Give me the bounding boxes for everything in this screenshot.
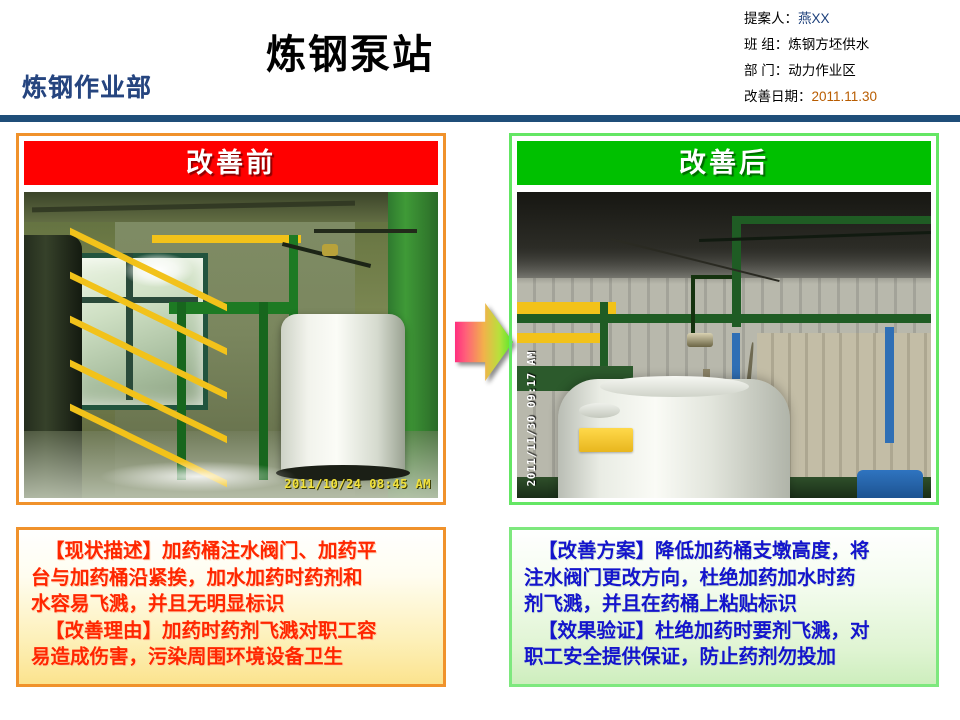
meta-value-department: 动力作业区: [788, 63, 856, 78]
meta-row-date: 改善日期：2011.11.30: [744, 84, 944, 110]
photo-before-scene: [24, 192, 438, 498]
handrail-top: [152, 235, 301, 243]
meta-block: 提案人：燕XX 班 组：炼钢方坯供水 部 门：动力作业区 改善日期：2011.1…: [744, 6, 944, 110]
panel-before: 改善前: [16, 133, 446, 505]
overhead-pipe: [314, 229, 418, 233]
dosing-tank: [281, 314, 405, 473]
slide-root: 炼钢泵站 炼钢作业部 提案人：燕XX 班 组：炼钢方坯供水 部 门：动力作业区 …: [0, 0, 960, 720]
text-line: 水容易飞溅，并且无明显标识: [31, 591, 433, 618]
meta-value-date: 2011.11.30: [812, 89, 878, 104]
arrow-shape: [455, 303, 513, 381]
text-box-before: 【现状描述】加药桶注水阀门、加药平 台与加药桶沿紧挨，加水加药时药剂和 水容易飞…: [16, 527, 446, 687]
meta-row-department: 部 门：动力作业区: [744, 58, 944, 84]
meta-value-proposer: 燕XX: [798, 11, 830, 26]
photo-after-timestamp: 2011/11/30 09:17 AM: [525, 351, 538, 486]
text-line: 台与加药桶沿紧挨，加水加药时药剂和: [31, 565, 433, 592]
banner-before-wrap: 改善前: [19, 136, 443, 185]
yellow-handrail-lower: [517, 333, 608, 344]
photo-after-scene: [517, 192, 931, 498]
text-line: 【效果验证】杜绝加药时要剂飞溅，对: [524, 618, 926, 645]
panel-after: 改善后: [509, 133, 939, 505]
meta-row-team: 班 组：炼钢方坯供水: [744, 32, 944, 58]
green-pipe-top: [732, 216, 931, 224]
text-line: 注水阀门更改方向，杜绝加药加水时药: [524, 565, 926, 592]
text-line: 剂飞溅，并且在药桶上粘贴标识: [524, 591, 926, 618]
photo-before: 2011/10/24 08:45 AM: [24, 192, 438, 498]
text-line: 职工安全提供保证，防止药剂勿投加: [524, 644, 926, 671]
department-label: 炼钢作业部: [22, 68, 152, 104]
text-line: 易造成伤害，污染周围环境设备卫生: [31, 644, 433, 671]
banner-before-label: 改善前: [24, 141, 438, 185]
header-divider: [0, 115, 960, 122]
stair-rail: [70, 272, 227, 356]
photo-after: 2011/11/30 09:17 AM: [517, 192, 931, 498]
water-valve: [322, 244, 338, 256]
nozzle-arm-horizontal: [691, 275, 732, 279]
stair-rail: [70, 316, 227, 400]
tank-lid: [600, 376, 749, 397]
stair-rail: [70, 360, 227, 444]
floor-spill: [99, 461, 298, 492]
banner-after-label: 改善后: [517, 141, 931, 185]
blue-pipe-right: [885, 327, 894, 443]
yellow-identification-label: [579, 428, 633, 452]
slide-header: 炼钢泵站 炼钢作业部 提案人：燕XX 班 组：炼钢方坯供水 部 门：动力作业区 …: [0, 0, 960, 118]
banner-after-wrap: 改善后: [512, 136, 936, 185]
text-line: 【改善方案】降低加药桶支墩高度，将: [524, 538, 926, 565]
photo-before-timestamp: 2011/10/24 08:45 AM: [284, 477, 431, 491]
nozzle-arm: [691, 275, 695, 342]
text-box-after: 【改善方案】降低加药桶支墩高度，将 注水阀门更改方向，杜绝加药加水时药 剂飞溅，…: [509, 527, 939, 687]
green-beam: [517, 314, 931, 323]
handrail-post: [600, 302, 608, 369]
text-line: 【现状描述】加药桶注水阀门、加药平: [31, 538, 433, 565]
meta-label-date: 改善日期：: [744, 89, 812, 104]
meta-label-department: 部 门：: [744, 63, 788, 78]
stand-leg-right: [259, 302, 268, 479]
text-line: 【改善理由】加药时药剂飞溅对职工容: [31, 618, 433, 645]
blue-drum: [857, 470, 923, 498]
meta-row-proposer: 提案人：燕XX: [744, 6, 944, 32]
meta-label-team: 班 组：: [744, 37, 788, 52]
meta-label-proposer: 提案人：: [744, 11, 798, 26]
improvement-arrow-icon: [455, 303, 513, 381]
redirected-valve: [687, 333, 713, 347]
meta-value-team: 炼钢方坯供水: [788, 37, 869, 52]
